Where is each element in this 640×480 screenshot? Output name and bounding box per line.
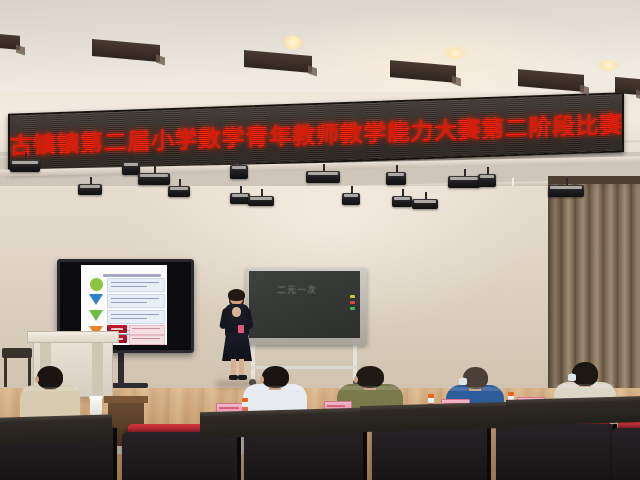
seat-back[interactable]: [612, 428, 640, 480]
stage-light-lens: [250, 197, 272, 200]
blackboard-chalk-text: 二元一次: [277, 283, 323, 294]
seat-back[interactable]: [496, 424, 616, 480]
attendee-head: [356, 366, 384, 388]
attendee-head: [37, 366, 63, 389]
blackboard-surface: 二元一次: [249, 271, 360, 338]
attendee-shoulder-highlight: [339, 386, 401, 390]
slide-text-block: [107, 294, 165, 308]
bottle-cap: [242, 398, 248, 402]
slide-title-bar: [89, 269, 163, 276]
ceiling-light-glow: [300, 0, 640, 104]
seat-divider: [363, 426, 367, 480]
slide-note-box: [129, 335, 165, 345]
bottle-cap: [508, 392, 514, 396]
slide-bullet-icon: [90, 278, 103, 291]
presenter-hands: [232, 307, 241, 317]
slide-chevron-icon: [89, 294, 103, 305]
curtain-rail: [548, 176, 640, 184]
attendee-ear: [35, 376, 39, 383]
name-card-text: [219, 407, 239, 409]
attendee-shoulder-highlight: [245, 386, 305, 390]
presenter-shoe-left: [229, 375, 238, 380]
stage-light-lens: [480, 175, 494, 178]
stage-light-lens: [12, 161, 38, 164]
slide-text-line: [111, 282, 159, 283]
face-mask-icon: [459, 378, 467, 385]
slide-text-line: [111, 318, 147, 319]
desk: [506, 400, 640, 426]
seat-divider: [487, 428, 491, 480]
stage-light-lens: [550, 186, 582, 189]
lectern-panel-right: [92, 341, 103, 395]
slide-text-line: [111, 314, 159, 315]
stage-light-lens: [232, 166, 246, 169]
side-table-top: [104, 396, 148, 403]
stage-light-lens: [388, 173, 404, 176]
desk: [0, 418, 112, 443]
presenter-skirt: [222, 333, 252, 361]
attendee-head: [262, 366, 289, 388]
slide-note-text: [132, 338, 160, 339]
slide-chevron-icon: [89, 310, 103, 321]
attendee-head: [463, 367, 488, 389]
attendee-shoulder-highlight: [556, 384, 614, 388]
name-card-text: [327, 405, 345, 407]
lectern-top: [27, 331, 119, 343]
slide-text-line: [111, 286, 147, 287]
magnet-icon: [350, 307, 355, 310]
stage-light-lens: [394, 197, 410, 200]
presenter-hair: [228, 289, 245, 301]
slide-title-text: [103, 274, 161, 277]
stage-light-lens: [344, 194, 358, 197]
attendee-head: [572, 362, 598, 386]
paper-cup-lid: [89, 396, 103, 399]
stage-light-lens: [80, 185, 100, 188]
face-mask-icon: [568, 374, 576, 381]
stage-light-lens: [140, 174, 168, 177]
magnet-icon: [350, 295, 355, 298]
stage-light-lens: [308, 172, 338, 175]
desk: [200, 412, 360, 438]
downlight-icon: [597, 60, 620, 71]
slide-text-line: [111, 298, 159, 299]
seat-back[interactable]: [122, 432, 240, 480]
slide-label-text: [111, 328, 123, 330]
desk: [360, 406, 510, 432]
attendee-ear: [260, 376, 264, 383]
slide-text-line: [111, 302, 147, 303]
downlight-icon: [280, 36, 306, 49]
magnet-icon: [350, 301, 355, 304]
bottle-cap: [428, 394, 434, 398]
downlight-icon: [443, 47, 467, 59]
seat-divider: [237, 432, 241, 480]
rolling-blackboard: 二元一次: [246, 268, 367, 345]
slide-text-block: [107, 310, 165, 324]
stage-light-lens: [170, 187, 188, 190]
slide-note-box: [129, 325, 165, 335]
stage-light-lens: [124, 163, 138, 166]
stage-light-lens: [232, 194, 248, 197]
attendee-ear: [354, 376, 358, 383]
seat-back[interactable]: [372, 428, 490, 480]
paper-cup: [90, 396, 102, 416]
stage-light-lens: [414, 200, 436, 203]
attendee-shoulder-highlight: [22, 387, 78, 391]
seat-divider: [113, 428, 117, 480]
slide-text-block: [107, 278, 165, 292]
stage-light-lens: [450, 177, 478, 180]
auditorium-photo-scene: 古镇镇第二届小学数学青年教师教学能力大赛第二阶段比赛: [0, 0, 640, 480]
stool-leg: [4, 357, 7, 387]
slide-note-text: [132, 328, 160, 329]
attendee-shoulder-highlight: [448, 387, 502, 391]
